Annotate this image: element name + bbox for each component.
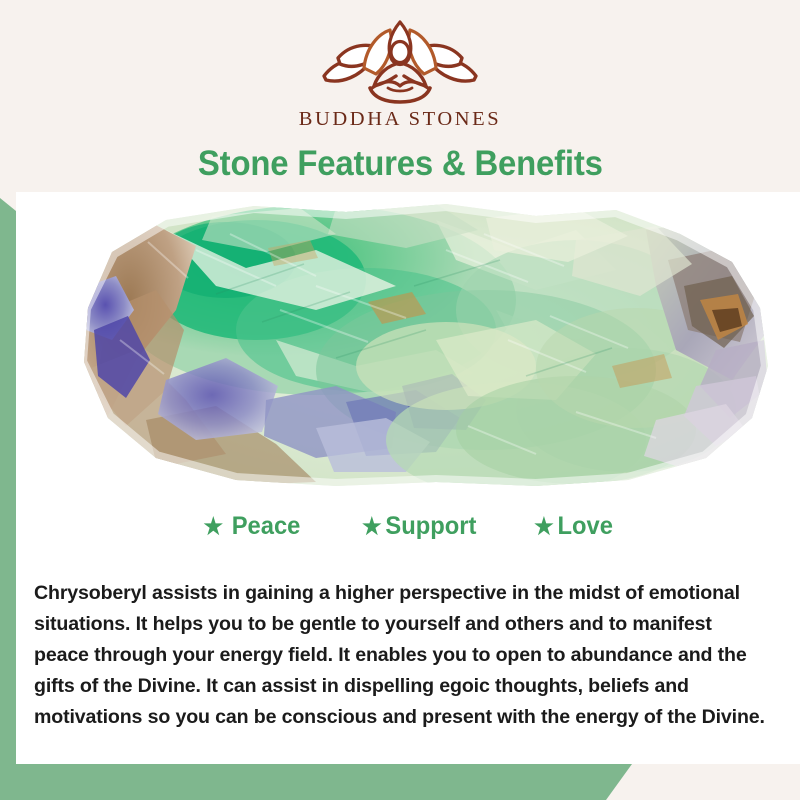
star-icon: ★ [362,515,382,538]
stone-photo: Chrysoberyl（Cat's Eye） [16,190,800,490]
header: BUDDHA STONES Stone Features & Benefits [0,0,800,192]
star-icon: ★ [534,515,554,538]
page-title-text: Stone Features & Benefits [198,144,603,184]
keyword-peace: ★ Peace [204,512,301,541]
stone-description: Chrysoberyl assists in gaining a higher … [34,578,770,733]
keyword-love: ★ Love [534,512,613,541]
keyword-support: ★ Support [362,512,476,541]
keyword-peace-label: Peace [232,512,301,541]
lotus-meditation-figure-icon [312,18,488,104]
keyword-badges: ★ Peace ★ Support ★ Love [16,512,800,541]
brand-logo: BUDDHA STONES [299,18,502,131]
stone-benefits-infographic: Chrysoberyl（Cat's Eye） [0,0,800,800]
keyword-support-label: Support [386,512,477,541]
stone-illustration [16,190,800,490]
brand-wordmark: BUDDHA STONES [299,108,502,131]
star-icon: ★ [204,515,224,538]
keyword-love-label: Love [557,512,612,541]
frame-accent-left [0,198,16,800]
frame-accent-bottom [0,764,632,800]
page-title: Stone Features & Benefits [0,144,800,184]
